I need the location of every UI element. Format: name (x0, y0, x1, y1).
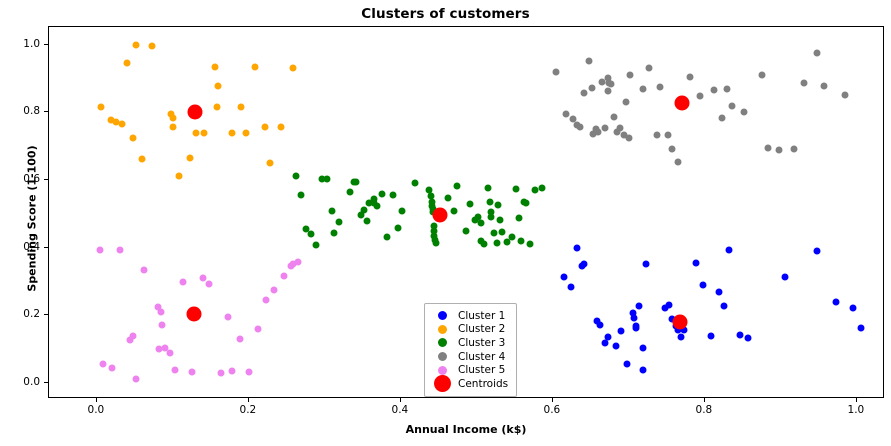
y-tick-5 (44, 111, 48, 112)
data-point-3-24 (394, 224, 401, 231)
data-point-2-1 (98, 103, 105, 110)
data-point-4-41 (776, 146, 783, 153)
data-point-1-36 (781, 274, 788, 281)
data-point-4-17 (608, 80, 615, 87)
data-point-3-45 (477, 219, 484, 226)
y-tick-label-1: 0.0 (8, 376, 40, 388)
centroid-marker-1 (187, 105, 202, 120)
data-point-1-2 (574, 245, 581, 252)
data-point-1-26 (678, 334, 685, 341)
data-point-2-24 (261, 123, 268, 130)
data-point-3-1 (293, 172, 300, 179)
data-point-4-5 (577, 124, 584, 131)
data-point-4-44 (814, 50, 821, 57)
data-point-3-7 (324, 175, 331, 182)
data-point-3-65 (531, 187, 538, 194)
data-point-2-14 (186, 155, 193, 162)
data-point-5-7 (133, 376, 140, 383)
data-point-3-9 (331, 230, 338, 237)
data-point-4-11 (595, 128, 602, 135)
data-point-1-1 (568, 284, 575, 291)
legend-marker-icon-4 (431, 352, 453, 361)
data-point-3-2 (297, 192, 304, 199)
x-tick-6 (856, 398, 857, 402)
x-tick-4 (552, 398, 553, 402)
centroid-marker-2 (187, 307, 202, 322)
x-tick-3 (400, 398, 401, 402)
data-point-5-27 (270, 287, 277, 294)
legend-marker-icon-3 (431, 338, 453, 347)
data-point-2-7 (133, 41, 140, 48)
data-point-5-6 (130, 332, 137, 339)
data-point-1-12 (623, 361, 630, 368)
data-point-2-21 (237, 103, 244, 110)
data-point-2-5 (124, 59, 131, 66)
data-point-2-18 (213, 104, 220, 111)
data-point-3-55 (497, 216, 504, 223)
legend-label-3: Cluster 3 (458, 337, 505, 349)
data-point-1-39 (850, 304, 857, 311)
data-point-1-40 (857, 324, 864, 331)
data-point-3-56 (498, 229, 505, 236)
data-point-5-20 (217, 369, 224, 376)
x-tick-label-4: 0.6 (544, 404, 561, 416)
legend-label-6: Centroids (458, 378, 508, 390)
data-point-2-12 (169, 123, 176, 130)
y-tick-4 (44, 179, 48, 180)
data-point-1-22 (666, 301, 673, 308)
data-point-5-2 (99, 361, 106, 368)
data-point-1-20 (643, 260, 650, 267)
y-axis-label: Spending Score (1-100) (26, 99, 39, 339)
data-point-3-58 (508, 233, 515, 240)
data-point-1-7 (597, 322, 604, 329)
data-point-4-35 (719, 114, 726, 121)
data-point-2-17 (211, 63, 218, 70)
data-point-1-33 (726, 246, 733, 253)
data-point-1-30 (707, 333, 714, 340)
data-point-4-40 (764, 144, 771, 151)
data-point-5-1 (96, 247, 103, 254)
y-tick-2 (44, 314, 48, 315)
data-point-4-18 (611, 114, 618, 121)
data-point-1-32 (720, 303, 727, 310)
data-point-1-17 (635, 302, 642, 309)
data-point-2-16 (201, 130, 208, 137)
data-point-4-46 (841, 92, 848, 99)
data-point-3-11 (346, 188, 353, 195)
data-point-2-11 (169, 115, 176, 122)
data-point-5-15 (172, 366, 179, 373)
data-point-5-21 (224, 313, 231, 320)
data-point-2-8 (139, 155, 146, 162)
legend-item-6[interactable]: Centroids (431, 377, 508, 391)
data-point-3-52 (491, 230, 498, 237)
data-point-1-5 (561, 274, 568, 281)
data-point-3-48 (485, 185, 492, 192)
data-point-1-4 (581, 260, 588, 267)
data-point-2-6 (130, 135, 137, 142)
data-point-2-4 (118, 121, 125, 128)
x-tick-1 (96, 398, 97, 402)
data-point-3-4 (308, 230, 315, 237)
data-point-4-12 (598, 79, 605, 86)
data-point-4-8 (588, 84, 595, 91)
data-point-4-14 (604, 88, 611, 95)
data-point-5-4 (117, 247, 124, 254)
data-point-4-30 (669, 146, 676, 153)
x-tick-label-5: 0.8 (696, 404, 713, 416)
data-point-4-38 (741, 108, 748, 115)
data-point-3-49 (486, 198, 493, 205)
data-point-1-31 (715, 289, 722, 296)
data-point-3-21 (378, 190, 385, 197)
legend-marker-icon-6 (431, 375, 453, 392)
legend-label-1: Cluster 1 (458, 310, 505, 322)
legend-marker-icon-2 (431, 325, 453, 334)
data-point-5-31 (294, 258, 301, 265)
data-point-5-14 (166, 349, 173, 356)
data-point-2-15 (192, 130, 199, 137)
data-point-3-15 (361, 207, 368, 214)
data-point-5-17 (188, 368, 195, 375)
data-point-1-34 (736, 331, 743, 338)
centroid-marker-4 (672, 315, 687, 330)
data-point-3-25 (399, 207, 406, 214)
data-point-2-19 (215, 82, 222, 89)
data-point-1-35 (745, 334, 752, 341)
data-point-2-25 (267, 159, 274, 166)
data-point-4-26 (645, 64, 652, 71)
legend-item-4[interactable]: Cluster 4 (431, 350, 508, 364)
data-point-3-5 (312, 241, 319, 248)
data-point-5-8 (141, 267, 148, 274)
data-point-3-51 (488, 213, 495, 220)
data-point-3-60 (515, 215, 522, 222)
data-point-4-23 (625, 135, 632, 142)
data-point-4-31 (674, 158, 681, 165)
y-tick-3 (44, 247, 48, 248)
data-point-3-47 (481, 240, 488, 247)
data-point-4-45 (821, 82, 828, 89)
data-point-4-43 (800, 80, 807, 87)
data-point-2-27 (289, 65, 296, 72)
data-point-3-8 (329, 207, 336, 214)
legend-item-3[interactable]: Cluster 3 (431, 336, 508, 350)
data-point-4-29 (665, 131, 672, 138)
legend: Cluster 1Cluster 2Cluster 3Cluster 4Clus… (424, 303, 517, 397)
data-point-5-23 (236, 336, 243, 343)
data-point-5-28 (280, 273, 287, 280)
data-point-3-16 (364, 217, 371, 224)
data-point-2-26 (277, 123, 284, 130)
data-point-3-63 (523, 199, 530, 206)
data-point-3-40 (454, 182, 461, 189)
data-point-2-23 (251, 63, 258, 70)
data-point-3-61 (517, 237, 524, 244)
legend-item-1[interactable]: Cluster 1 (431, 309, 508, 323)
data-point-3-13 (353, 179, 360, 186)
centroid-marker-3 (433, 207, 448, 222)
x-tick-label-3: 0.4 (392, 404, 409, 416)
data-point-3-54 (495, 202, 502, 209)
data-point-5-18 (200, 274, 207, 281)
data-point-4-27 (654, 131, 661, 138)
y-tick-label-6: 1.0 (8, 38, 40, 50)
data-point-1-9 (602, 340, 609, 347)
x-axis-label: Annual Income (k$) (48, 423, 884, 436)
data-point-2-20 (229, 130, 236, 137)
x-tick-2 (248, 398, 249, 402)
data-point-1-29 (700, 282, 707, 289)
data-point-3-42 (467, 200, 474, 207)
data-point-5-26 (262, 297, 269, 304)
page-title: Clusters of customers (0, 6, 891, 22)
data-point-1-38 (832, 299, 839, 306)
legend-marker-icon-1 (431, 311, 453, 320)
data-point-4-39 (758, 72, 765, 79)
data-point-4-7 (586, 57, 593, 64)
data-point-3-66 (539, 185, 546, 192)
data-point-5-16 (179, 278, 186, 285)
data-point-5-12 (159, 321, 166, 328)
data-point-4-22 (622, 99, 629, 106)
data-point-3-20 (373, 203, 380, 210)
data-point-2-9 (148, 42, 155, 49)
data-point-4-20 (616, 124, 623, 131)
data-point-5-19 (206, 280, 213, 287)
data-point-3-37 (432, 240, 439, 247)
data-point-4-1 (552, 69, 559, 76)
data-point-1-18 (639, 345, 646, 352)
x-tick-label-1: 0.0 (88, 404, 105, 416)
data-point-3-53 (493, 239, 500, 246)
data-point-5-22 (229, 367, 236, 374)
data-point-2-13 (175, 172, 182, 179)
data-point-4-34 (711, 86, 718, 93)
data-point-3-59 (512, 185, 519, 192)
legend-label-5: Cluster 5 (458, 364, 505, 376)
data-point-4-33 (696, 93, 703, 100)
data-point-1-19 (640, 366, 647, 373)
data-point-1-10 (612, 342, 619, 349)
figure-canvas: Clusters of customers 0.00.20.40.60.81.0… (0, 0, 891, 446)
data-point-4-25 (639, 85, 646, 92)
legend-label-4: Cluster 4 (458, 351, 505, 363)
data-point-1-37 (814, 247, 821, 254)
y-tick-6 (44, 44, 48, 45)
x-tick-label-2: 0.2 (240, 404, 257, 416)
data-point-4-32 (687, 74, 694, 81)
data-point-4-36 (723, 85, 730, 92)
legend-label-2: Cluster 2 (458, 323, 505, 335)
data-point-1-28 (692, 259, 699, 266)
data-point-3-10 (335, 219, 342, 226)
data-point-5-11 (158, 309, 165, 316)
data-point-1-11 (618, 327, 625, 334)
data-point-1-16 (632, 325, 639, 332)
centroid-marker-5 (675, 96, 690, 111)
data-point-5-24 (245, 368, 252, 375)
data-point-4-42 (790, 146, 797, 153)
data-point-4-37 (729, 103, 736, 110)
x-tick-label-6: 1.0 (848, 404, 865, 416)
data-point-3-41 (463, 228, 470, 235)
data-point-5-3 (109, 364, 116, 371)
data-point-1-14 (631, 315, 638, 322)
data-point-3-26 (411, 180, 418, 187)
data-point-3-64 (527, 241, 534, 248)
data-point-4-28 (657, 84, 664, 91)
data-point-4-2 (562, 110, 569, 117)
x-tick-5 (704, 398, 705, 402)
data-point-4-6 (581, 90, 588, 97)
legend-item-2[interactable]: Cluster 2 (431, 323, 508, 337)
data-point-3-38 (445, 194, 452, 201)
y-tick-1 (44, 382, 48, 383)
data-point-4-24 (626, 72, 633, 79)
data-point-3-22 (384, 233, 391, 240)
data-point-2-22 (242, 130, 249, 137)
legend-marker-icon-5 (431, 366, 453, 375)
data-point-4-13 (602, 124, 609, 131)
data-point-3-39 (451, 208, 458, 215)
data-point-5-25 (255, 326, 262, 333)
data-point-3-23 (389, 191, 396, 198)
